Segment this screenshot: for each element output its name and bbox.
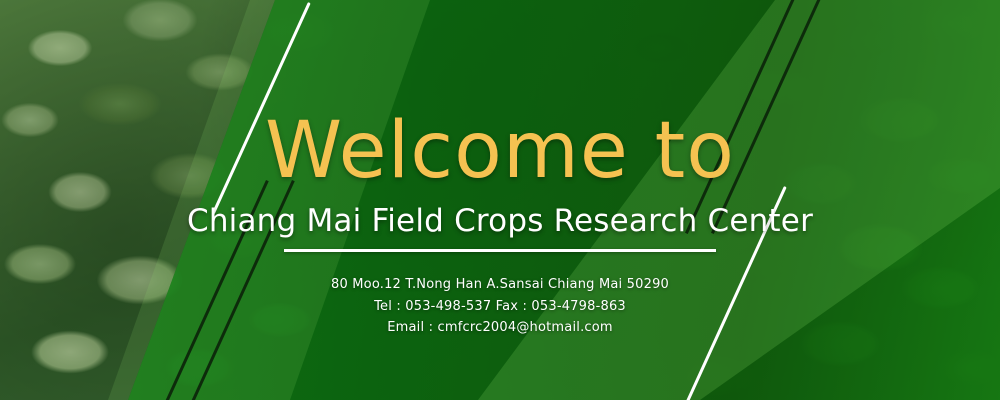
contact-address: 80 Moo.12 T.Nong Han A.Sansai Chiang Mai… bbox=[331, 276, 669, 294]
banner-content: Welcome to Chiang Mai Field Crops Resear… bbox=[0, 0, 1000, 400]
welcome-banner: Welcome to Chiang Mai Field Crops Resear… bbox=[0, 0, 1000, 400]
banner-title: Welcome to bbox=[265, 112, 735, 190]
contact-phone: Tel : 053-498-537 Fax : 053-4798-863 bbox=[331, 298, 669, 316]
contact-email: Email : cmfcrc2004@hotmail.com bbox=[331, 319, 669, 337]
title-underline bbox=[284, 249, 716, 252]
banner-subtitle: Chiang Mai Field Crops Research Center bbox=[187, 204, 813, 238]
contact-block: 80 Moo.12 T.Nong Han A.Sansai Chiang Mai… bbox=[331, 276, 669, 337]
